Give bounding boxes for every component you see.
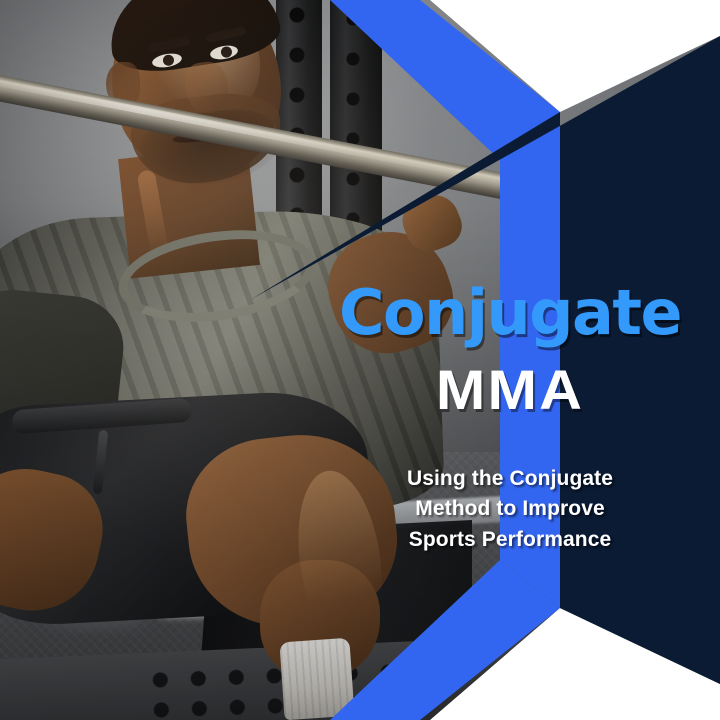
poster-title-secondary: MMA [287,362,720,418]
tagline-line-3: Sports Performance [300,525,720,555]
poster-title-primary: Conjugate [300,282,720,344]
tagline-line-1: Using the Conjugate [300,464,720,494]
poster-text-block: Conjugate MMA Using the Conjugate Method… [300,282,720,555]
tagline-line-2: Method to Improve [300,494,720,524]
poster-tagline: Using the Conjugate Method to Improve Sp… [300,464,720,555]
poster-canvas: Conjugate MMA Using the Conjugate Method… [0,0,720,720]
